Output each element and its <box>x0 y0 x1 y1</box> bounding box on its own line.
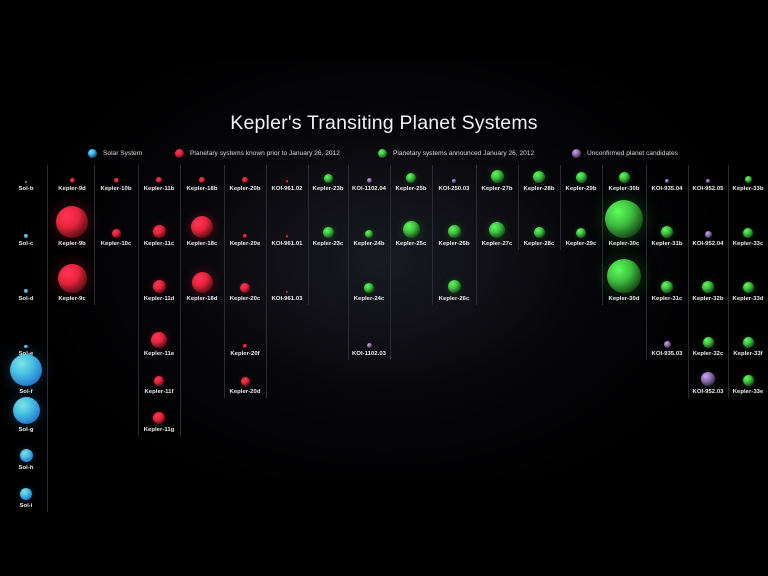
planet-label: KOI-935.04 <box>646 186 688 192</box>
planet-disc[interactable] <box>661 226 673 238</box>
planet-label: Kepler-11f <box>138 389 180 395</box>
planet-label: Kepler-11e <box>138 351 180 357</box>
planet-disc[interactable] <box>242 177 248 183</box>
planet-label: Sol-h <box>5 465 47 471</box>
planet-label: Kepler-27c <box>476 241 518 247</box>
legend-swatch-announced-icon <box>378 149 387 158</box>
column-separator <box>266 165 267 398</box>
planet-disc[interactable] <box>661 281 673 293</box>
planet-label: Kepler-33e <box>728 389 768 395</box>
planet-disc[interactable] <box>114 178 119 183</box>
planet-label: Kepler-30c <box>602 241 646 247</box>
planet-disc[interactable] <box>664 341 671 348</box>
planet-label: Kepler-11g <box>138 427 180 433</box>
column-separator <box>646 165 647 360</box>
planet-disc[interactable] <box>448 225 461 238</box>
planet-label: Kepler-31b <box>646 241 688 247</box>
planet-disc[interactable] <box>10 354 42 386</box>
planet-disc[interactable] <box>286 291 288 293</box>
planet-label: Sol-f <box>5 389 47 395</box>
planet-disc[interactable] <box>452 179 456 183</box>
planet-label: Kepler-32b <box>688 296 728 302</box>
planet-label: Sol-b <box>5 186 47 192</box>
planet-label: Kepler-11c <box>138 241 180 247</box>
column-separator <box>224 165 225 398</box>
planet-disc[interactable] <box>324 174 333 183</box>
planet-disc[interactable] <box>403 221 420 238</box>
planet-disc[interactable] <box>533 171 545 183</box>
planet-label: Kepler-23b <box>308 186 348 192</box>
planet-disc[interactable] <box>745 176 752 183</box>
planet-label: KOI-952.05 <box>688 186 728 192</box>
planet-disc[interactable] <box>13 397 40 424</box>
planet-disc[interactable] <box>192 272 213 293</box>
planet-disc[interactable] <box>491 170 504 183</box>
planet-label: Kepler-18d <box>180 296 224 302</box>
planet-label: Kepler-26c <box>432 296 476 302</box>
planet-label: Kepler-30d <box>602 296 646 302</box>
planet-disc[interactable] <box>24 289 28 293</box>
planet-label: Kepler-10b <box>94 186 138 192</box>
planet-label: Sol-g <box>5 427 47 433</box>
planet-disc[interactable] <box>56 206 88 238</box>
planet-label: Kepler-29b <box>560 186 602 192</box>
planet-label: Kepler-33b <box>728 186 768 192</box>
planet-disc[interactable] <box>70 178 75 183</box>
planet-label: Kepler-20d <box>224 389 266 395</box>
planet-disc[interactable] <box>706 179 710 183</box>
planet-label: Kepler-33d <box>728 296 768 302</box>
column-separator <box>728 165 729 398</box>
planet-disc[interactable] <box>665 179 669 183</box>
planet-label: Kepler-20c <box>224 296 266 302</box>
planet-disc[interactable] <box>153 225 166 238</box>
column-separator <box>47 165 48 512</box>
planet-disc[interactable] <box>702 281 714 293</box>
legend-swatch-known-prior-icon <box>175 149 184 158</box>
planet-label: Kepler-20e <box>224 241 266 247</box>
planet-disc[interactable] <box>286 235 289 238</box>
planet-label: Kepler-31c <box>646 296 688 302</box>
planet-label: Kepler-27b <box>476 186 518 192</box>
planet-disc[interactable] <box>243 234 247 238</box>
planet-disc[interactable] <box>619 172 630 183</box>
planet-disc[interactable] <box>20 449 33 462</box>
kepler-planet-systems-figure: Kepler's Transiting Planet Systems Solar… <box>0 0 768 576</box>
planet-disc[interactable] <box>364 283 374 293</box>
planet-label: KOI-1102.04 <box>348 186 390 192</box>
planet-label: Kepler-24c <box>348 296 390 302</box>
planet-label: Kepler-20b <box>224 186 266 192</box>
planet-label: Sol-i <box>5 503 47 509</box>
column-separator <box>560 165 561 250</box>
planet-label: Kepler-29c <box>560 241 602 247</box>
planet-label: KOI-1102.03 <box>348 351 390 357</box>
legend-swatch-unconfirmed-icon <box>572 149 581 158</box>
systems-grid: Sol-bSol-cSol-dSol-eSol-fSol-gSol-hSol-i… <box>0 163 768 483</box>
legend-item-solar-system: Solar System <box>88 145 142 159</box>
planet-disc[interactable] <box>406 173 416 183</box>
column-separator <box>348 165 349 360</box>
legend-label: Planetary systems announced January 26, … <box>393 150 534 157</box>
planet-disc[interactable] <box>743 337 754 348</box>
planet-label: Kepler-25c <box>390 241 432 247</box>
planet-disc[interactable] <box>489 222 505 238</box>
planet-disc[interactable] <box>743 282 754 293</box>
planet-label: Kepler-30b <box>602 186 646 192</box>
legend-label: Solar System <box>103 150 142 157</box>
planet-disc[interactable] <box>576 172 587 183</box>
legend-item-announced: Planetary systems announced January 26, … <box>378 145 534 159</box>
planet-label: Kepler-9d <box>50 186 94 192</box>
planet-label: KOI-952.04 <box>688 241 728 247</box>
column-separator <box>518 165 519 250</box>
planet-label: Kepler-24b <box>348 241 390 247</box>
planet-disc[interactable] <box>243 344 247 348</box>
legend-item-unconfirmed: Unconfirmed planet candidates <box>572 145 678 159</box>
planet-disc[interactable] <box>156 177 162 183</box>
planet-label: Kepler-11b <box>138 186 180 192</box>
legend: Solar SystemPlanetary systems known prio… <box>0 145 768 159</box>
planet-disc[interactable] <box>367 343 372 348</box>
planet-label: Sol-c <box>5 241 47 247</box>
legend-swatch-solar-system-icon <box>88 149 97 158</box>
planet-label: Kepler-18c <box>180 241 224 247</box>
planet-disc[interactable] <box>701 372 715 386</box>
planet-disc[interactable] <box>607 259 641 293</box>
planet-label: Kepler-28b <box>518 186 560 192</box>
planet-label: Kepler-9c <box>50 296 94 302</box>
planet-disc[interactable] <box>58 264 87 293</box>
planet-disc[interactable] <box>576 228 586 238</box>
planet-label: KOI-250.03 <box>432 186 476 192</box>
planet-label: Kepler-18b <box>180 186 224 192</box>
planet-label: Kepler-9b <box>50 241 94 247</box>
planet-disc[interactable] <box>743 375 754 386</box>
planet-disc[interactable] <box>199 177 205 183</box>
planet-disc[interactable] <box>240 283 250 293</box>
planet-disc[interactable] <box>20 488 32 500</box>
planet-disc[interactable] <box>24 234 28 238</box>
planet-disc[interactable] <box>153 280 166 293</box>
planet-label: Kepler-20f <box>224 351 266 357</box>
planet-disc[interactable] <box>154 376 164 386</box>
planet-disc[interactable] <box>705 231 712 238</box>
planet-label: Sol-d <box>5 296 47 302</box>
planet-disc[interactable] <box>112 229 121 238</box>
column-separator <box>688 165 689 398</box>
planet-disc[interactable] <box>448 280 461 293</box>
planet-label: Kepler-23c <box>308 241 348 247</box>
planet-label: KOI-961.02 <box>266 186 308 192</box>
planet-disc[interactable] <box>24 345 27 348</box>
planet-disc[interactable] <box>151 332 167 348</box>
planet-label: Kepler-11d <box>138 296 180 302</box>
legend-label: Planetary systems known prior to January… <box>190 150 340 157</box>
planet-disc[interactable] <box>191 216 213 238</box>
planet-label: Kepler-28c <box>518 241 560 247</box>
planet-label: Kepler-32c <box>688 351 728 357</box>
legend-label: Unconfirmed planet candidates <box>587 150 678 157</box>
planet-label: Kepler-25b <box>390 186 432 192</box>
planet-label: KOI-961.03 <box>266 296 308 302</box>
planet-disc[interactable] <box>25 181 27 183</box>
page-title: Kepler's Transiting Planet Systems <box>0 112 768 135</box>
planet-label: KOI-935.03 <box>646 351 688 357</box>
planet-disc[interactable] <box>534 227 545 238</box>
planet-disc[interactable] <box>703 337 714 348</box>
legend-item-known-prior: Planetary systems known prior to January… <box>175 145 340 159</box>
planet-disc[interactable] <box>367 178 372 183</box>
column-separator <box>390 165 391 360</box>
planet-label: KOI-961.01 <box>266 241 308 247</box>
planet-label: Kepler-26b <box>432 241 476 247</box>
planet-label: Kepler-33c <box>728 241 768 247</box>
planet-disc[interactable] <box>153 412 165 424</box>
planet-disc[interactable] <box>743 228 753 238</box>
planet-label: Kepler-33f <box>728 351 768 357</box>
planet-disc[interactable] <box>323 227 334 238</box>
planet-disc[interactable] <box>365 230 373 238</box>
planet-label: KOI-952.03 <box>688 389 728 395</box>
planet-disc[interactable] <box>286 180 289 183</box>
planet-label: Kepler-10c <box>94 241 138 247</box>
planet-disc[interactable] <box>241 377 250 386</box>
planet-disc[interactable] <box>605 200 643 238</box>
